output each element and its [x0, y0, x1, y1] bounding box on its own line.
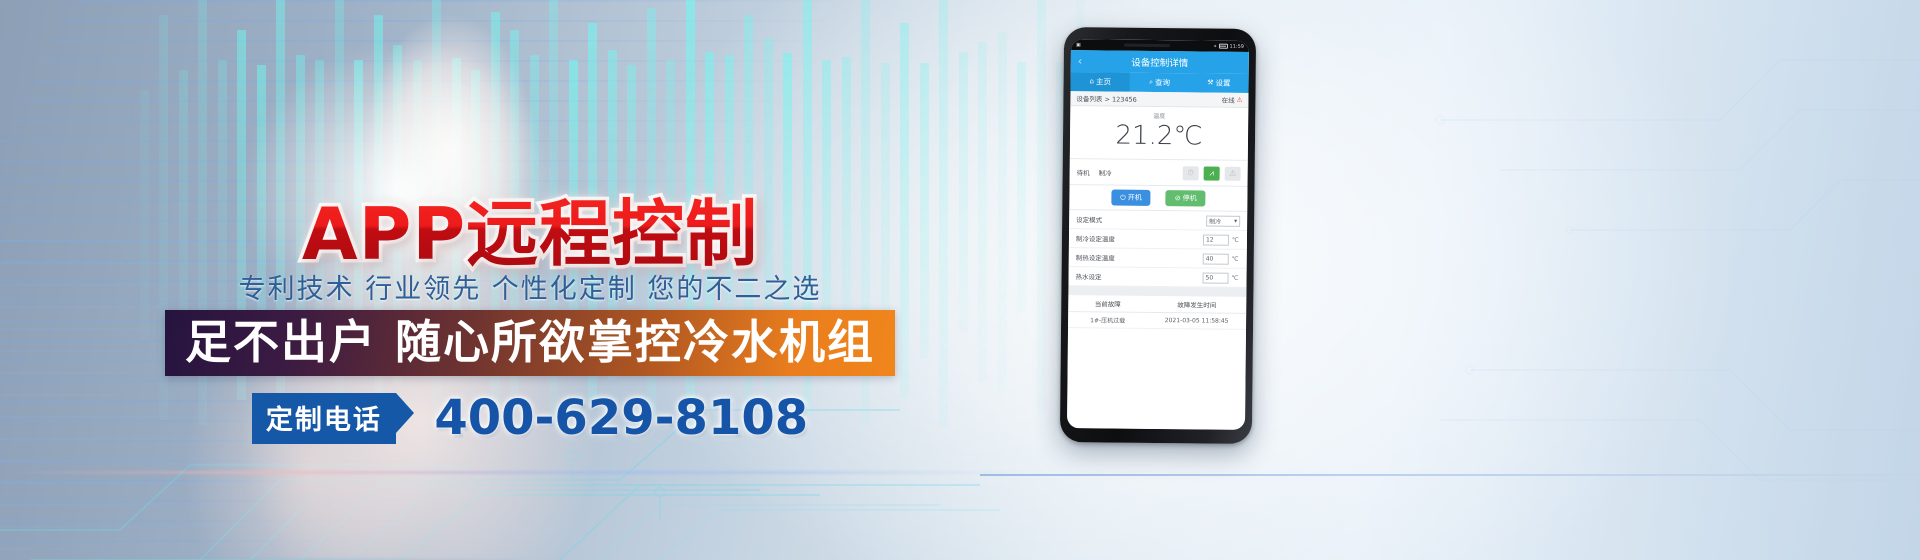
tab-home[interactable]: ⌂ 主页 [1071, 72, 1131, 92]
banner-copy: APP远程控制 APP远程控制 专利技术 行业领先 个性化定制 您的不二之选 足… [0, 0, 1060, 560]
app-title: 设备控制详情 [1131, 55, 1188, 70]
fault-name: 1#-压机过载 [1068, 315, 1147, 325]
power-off-label: 停机 [1183, 193, 1197, 203]
heat-temp-input[interactable]: 40 [1203, 253, 1229, 264]
table-row[interactable]: 1#-压机过载 2021-03-05 11:58:45 [1068, 312, 1246, 330]
mode-select[interactable]: 制冷 ▾ [1206, 215, 1240, 226]
ribbon-wrap: 足不出户 随心所欲掌控冷水机组 [0, 310, 1060, 376]
mode-row: 待机 制冷 ⏱ ⩘ ⚠ [1070, 159, 1248, 187]
fault-table-header: 当前故障 故障发生时间 [1068, 295, 1246, 314]
settings-list: 设定模式 制冷 ▾ 制冷设定温度 12 ℃ [1068, 210, 1247, 288]
temperature-card: 温度 21.2℃ [1070, 106, 1249, 161]
contact-row: 定制电话 400-629-8108 [0, 390, 1060, 446]
tel-number[interactable]: 400-629-8108 [434, 390, 808, 446]
phone-mockup: ▣ ⌖ 11:59 ‹ 设备控制详情 ⌂ 主页 [1060, 27, 1256, 444]
app-nav-bar: ‹ 设备控制详情 [1071, 50, 1249, 74]
bottom-light-streak-right [980, 474, 1920, 476]
ribbon-tagline: 足不出户 随心所欲掌控冷水机组 [165, 310, 895, 376]
power-row: ⏻ 开机 ⊘ 停机 [1069, 185, 1247, 212]
hot-water-input[interactable]: 50 [1203, 272, 1229, 283]
machine-mode-label: 制冷 [1099, 167, 1112, 177]
phone-screen: ▣ ⌖ 11:59 ‹ 设备控制详情 ⌂ 主页 [1067, 39, 1249, 430]
setting-row-hot-water: 热水设定 50 ℃ [1068, 267, 1246, 288]
setting-label: 设定模式 [1076, 214, 1102, 224]
headline: APP远程控制 [0, 175, 1060, 280]
setting-label: 热水设定 [1076, 271, 1102, 281]
setting-label: 制热设定温度 [1076, 252, 1115, 262]
search-icon: ⌕ [1149, 79, 1153, 86]
temperature-value: 21.2℃ [1070, 120, 1248, 152]
mode-icon-group: ⏱ ⩘ ⚠ [1183, 166, 1241, 181]
setting-value-wrap: 50 ℃ [1203, 272, 1240, 283]
battery-icon [1219, 44, 1228, 49]
fault-col-time: 故障发生时间 [1147, 299, 1246, 310]
phone-body: ▣ ⌖ 11:59 ‹ 设备控制详情 ⌂ 主页 [1060, 27, 1256, 444]
mode-select-value: 制冷 [1209, 216, 1221, 225]
setting-value-wrap: 40 ℃ [1203, 253, 1240, 264]
wrench-icon: ⚒ [1207, 80, 1213, 87]
tab-query-label: 查询 [1155, 77, 1170, 88]
setting-label: 制冷设定温度 [1076, 233, 1115, 243]
subheadline: 专利技术 行业领先 个性化定制 您的不二之选 [0, 267, 1060, 306]
stop-icon: ⊘ [1175, 194, 1181, 202]
chart-icon[interactable]: ⩘ [1204, 166, 1220, 180]
status-bar-left: ▣ [1076, 42, 1081, 48]
temperature-label: 温度 [1070, 110, 1248, 121]
warning-triangle-icon: ⚠ [1237, 96, 1243, 104]
alarm-clock-icon[interactable]: ⏱ [1183, 166, 1199, 180]
hot-water-unit: ℃ [1232, 274, 1240, 281]
heat-temp-unit: ℃ [1232, 255, 1240, 262]
breadcrumb[interactable]: 设备列表 > 123456 [1076, 93, 1137, 104]
home-icon: ⌂ [1090, 78, 1095, 85]
tab-settings[interactable]: ⚒ 设置 [1189, 73, 1249, 93]
speaker-notch [1124, 44, 1170, 47]
fault-col-current: 当前故障 [1068, 298, 1147, 309]
power-on-button[interactable]: ⏻ 开机 [1111, 190, 1151, 206]
power-off-button[interactable]: ⊘ 停机 [1166, 190, 1206, 206]
warning-triangle-icon[interactable]: ⚠ [1225, 166, 1241, 180]
fault-time: 2021-03-05 11:58:45 [1147, 317, 1246, 325]
tab-settings-label: 设置 [1215, 78, 1230, 89]
machine-state-label: 待机 [1077, 167, 1090, 177]
tel-label: 定制电话 [252, 393, 396, 444]
chevron-left-icon[interactable]: ‹ [1078, 56, 1083, 67]
power-icon: ⏻ [1120, 193, 1126, 202]
status-bar-right: ⌖ 11:59 [1214, 43, 1244, 49]
location-icon: ⌖ [1214, 43, 1217, 49]
promo-banner: APP远程控制 APP远程控制 专利技术 行业领先 个性化定制 您的不二之选 足… [0, 0, 1920, 560]
setting-value-wrap: 制冷 ▾ [1206, 215, 1240, 226]
setting-value-wrap: 12 ℃ [1203, 234, 1240, 245]
app-tab-bar: ⌂ 主页 ⌕ 查询 ⚒ 设置 [1071, 72, 1249, 93]
setting-row-heat-temp: 制热设定温度 40 ℃ [1069, 248, 1247, 269]
setting-row-cool-temp: 制冷设定温度 12 ℃ [1069, 229, 1247, 250]
status-bar-time: 11:59 [1230, 43, 1244, 49]
camera-icon: ▣ [1076, 42, 1081, 48]
right-wash [1160, 0, 1920, 560]
status-badge: 在线 ⚠ [1222, 95, 1243, 105]
setting-row-mode: 设定模式 制冷 ▾ [1069, 210, 1247, 231]
power-on-label: 开机 [1128, 193, 1142, 203]
cool-temp-input[interactable]: 12 [1203, 234, 1229, 245]
cool-temp-unit: ℃ [1232, 236, 1240, 243]
content-filler [1067, 328, 1246, 430]
tab-query[interactable]: ⌕ 查询 [1130, 73, 1190, 93]
chevron-down-icon: ▾ [1234, 217, 1237, 224]
status-badge-label: 在线 [1222, 95, 1235, 105]
circuit-traces-right [1140, 0, 1920, 560]
tab-home-label: 主页 [1096, 76, 1111, 87]
